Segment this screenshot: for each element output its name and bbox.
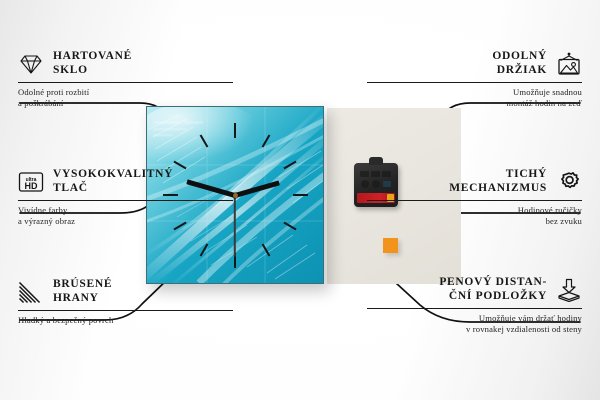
divider [18, 82, 233, 83]
diagonal-lines-icon [18, 280, 44, 304]
divider [367, 308, 582, 309]
diamond-icon [18, 52, 44, 76]
feature-description: Umožňuje snadnou montáž hodin na zeď [367, 87, 582, 109]
feature-header: PENOVÝ DISTAN- ČNÍ PODLOŽKY [367, 276, 582, 303]
feature-description: Hladký a bezpečný povrch [18, 315, 233, 326]
divider [367, 200, 582, 201]
feature-header: ultra HD VYSOKOKVALITNÝ TLAČ [18, 168, 233, 195]
feature-tempered-glass: HARTOVANÉ SKLO Odolné proti rozbití a po… [18, 50, 233, 109]
feature-title: PENOVÝ DISTAN- ČNÍ PODLOŽKY [439, 276, 547, 303]
feature-polished-edges: BRÚSENÉ HRANY Hladký a bezpečný povrch [18, 278, 233, 326]
hour-marker-11 [200, 134, 209, 147]
hour-marker-1 [262, 134, 271, 147]
feature-high-quality-print: ultra HD VYSOKOKVALITNÝ TLAČ Vivídne far… [18, 168, 233, 227]
feature-title: VYSOKOKVALITNÝ TLAČ [53, 168, 173, 195]
feature-header: BRÚSENÉ HRANY [18, 278, 233, 305]
feature-description: Odolné proti rozbití a poškrábání [18, 87, 233, 109]
feature-title: HARTOVANÉ SKLO [53, 50, 132, 77]
feature-description: Hodinové ručičky bez zvuku [367, 205, 582, 227]
hd-badge-large: HD [25, 181, 38, 191]
feature-silent-mechanism: TICHÝ MECHANIZMUS Hodinové ručičky bez z… [367, 168, 582, 227]
feature-description: Vivídne farby a výrazný obraz [18, 205, 233, 227]
hour-marker-5 [262, 243, 271, 256]
ultra-hd-icon: ultra HD [18, 170, 44, 194]
divider [367, 82, 582, 83]
hour-hand [234, 180, 280, 197]
hour-marker-4 [283, 222, 296, 231]
feature-title: BRÚSENÉ HRANY [53, 278, 112, 305]
feature-header: HARTOVANÉ SKLO [18, 50, 233, 77]
feature-header: ODOLNÝ DRŽIAK [367, 50, 582, 77]
feature-header: TICHÝ MECHANIZMUS [367, 168, 582, 195]
hour-marker-7 [200, 243, 209, 256]
mechanism-hanger-tab [369, 157, 383, 165]
foam-pad-arrow-icon [556, 278, 582, 302]
hour-marker-12 [234, 123, 236, 138]
divider [18, 310, 233, 311]
second-hand [234, 195, 236, 257]
hour-marker-3 [293, 194, 308, 196]
feature-title: TICHÝ MECHANIZMUS [449, 168, 547, 195]
picture-frame-hanger-icon [556, 52, 582, 76]
divider [18, 200, 233, 201]
feature-foam-spacers: PENOVÝ DISTAN- ČNÍ PODLOŽKY Umožňuje vám… [367, 276, 582, 335]
infographic-canvas: HARTOVANÉ SKLO Odolné proti rozbití a po… [0, 0, 600, 400]
feature-title: ODOLNÝ DRŽIAK [492, 50, 547, 77]
feature-description: Umožňuje vám držať hodiny v rovnakej vzd… [367, 313, 582, 335]
hour-marker-2 [283, 161, 296, 170]
gear-icon [556, 170, 582, 194]
foam-spacer-pad [383, 238, 398, 253]
clock-center-pin [233, 193, 238, 198]
feature-durable-holder: ODOLNÝ DRŽIAK Umožňuje snadnou montáž ho… [367, 50, 582, 109]
